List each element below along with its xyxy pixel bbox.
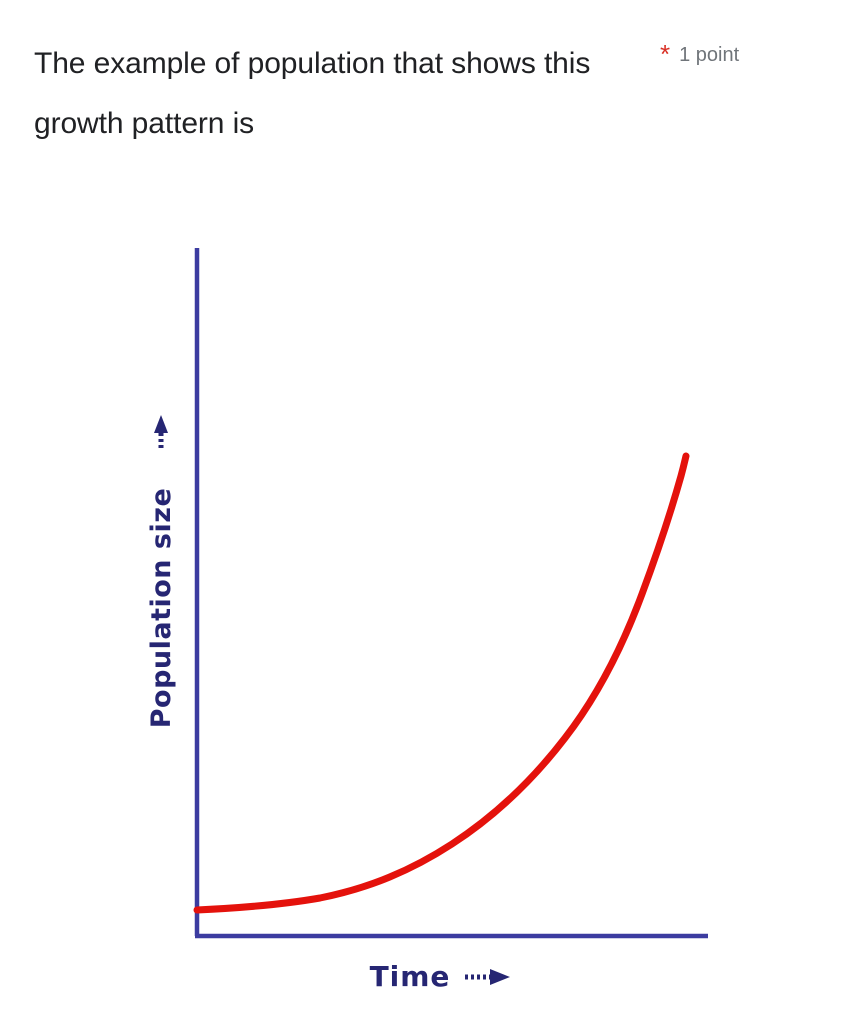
exponential-growth-chart: Population size Time (40, 186, 842, 1013)
y-axis-label-text: Population size (146, 488, 177, 729)
y-axis-label-group: Population size (146, 415, 177, 728)
y-axis-arrow-icon (154, 415, 168, 448)
question-block: The example of population that shows thi… (0, 0, 842, 170)
x-axis-label-group: Time (370, 960, 510, 993)
points-container: * 1 point (660, 42, 739, 68)
required-asterisk-icon: * (660, 42, 670, 66)
points-label: 1 point (679, 42, 739, 68)
question-title: The example of population that shows thi… (34, 34, 614, 154)
x-axis-arrow-icon (465, 969, 510, 985)
x-axis-label-text: Time (370, 960, 451, 993)
exponential-growth-curve (197, 456, 686, 910)
chart-canvas: Population size Time (40, 186, 842, 1013)
